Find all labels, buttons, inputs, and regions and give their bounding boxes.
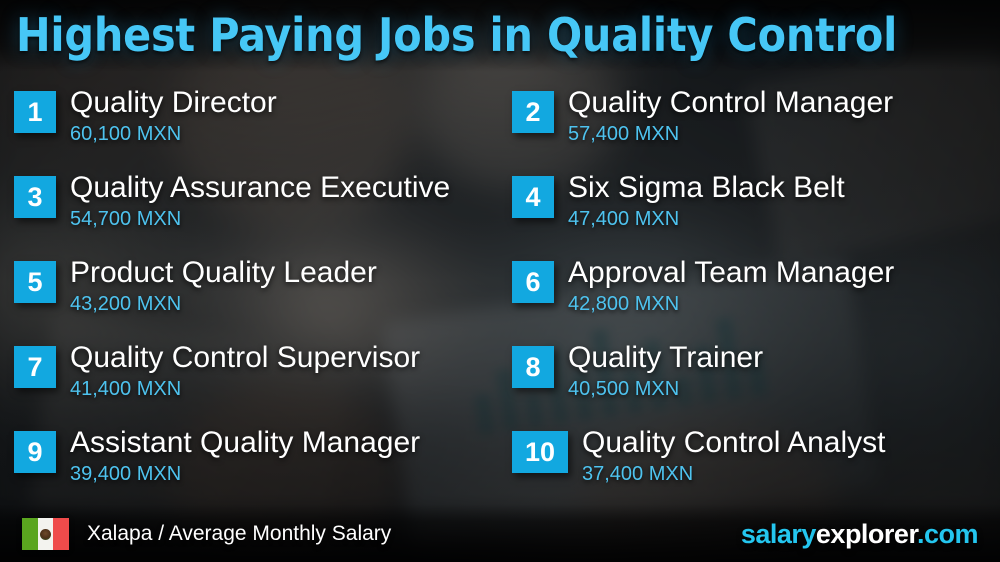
job-salary: 43,200 MXN bbox=[70, 291, 377, 317]
list-item: 1 Quality Director 60,100 MXN bbox=[0, 84, 500, 169]
list-item-text: Approval Team Manager 42,800 MXN bbox=[568, 254, 894, 317]
job-title: Quality Director bbox=[70, 84, 277, 122]
job-title: Assistant Quality Manager bbox=[70, 424, 420, 462]
list-item-text: Product Quality Leader 43,200 MXN bbox=[70, 254, 377, 317]
list-item: 3 Quality Assurance Executive 54,700 MXN bbox=[0, 169, 500, 254]
rank-badge: 3 bbox=[14, 176, 56, 218]
job-title: Quality Control Manager bbox=[568, 84, 893, 122]
job-salary: 41,400 MXN bbox=[70, 376, 420, 402]
list-item: 7 Quality Control Supervisor 41,400 MXN bbox=[0, 339, 500, 424]
list-item: 9 Assistant Quality Manager 39,400 MXN bbox=[0, 424, 500, 509]
job-salary: 40,500 MXN bbox=[568, 376, 763, 402]
footer-left-group: Xalapa / Average Monthly Salary bbox=[22, 518, 391, 550]
job-salary: 47,400 MXN bbox=[568, 206, 845, 232]
brand-part-salary: salary bbox=[741, 519, 816, 549]
list-item: 2 Quality Control Manager 57,400 MXN bbox=[500, 84, 1000, 169]
infographic-canvas: Highest Paying Jobs in Quality Control 1… bbox=[0, 0, 1000, 562]
footer-caption: Xalapa / Average Monthly Salary bbox=[87, 522, 391, 546]
brand-logo[interactable]: salaryexplorer.com bbox=[741, 519, 978, 550]
rank-badge: 4 bbox=[512, 176, 554, 218]
list-item-text: Six Sigma Black Belt 47,400 MXN bbox=[568, 169, 845, 232]
job-title: Quality Control Supervisor bbox=[70, 339, 420, 377]
brand-part-explorer: explorer bbox=[816, 519, 917, 549]
ranking-list: 1 Quality Director 60,100 MXN 2 Quality … bbox=[0, 84, 1000, 509]
job-salary: 60,100 MXN bbox=[70, 121, 277, 147]
job-salary: 57,400 MXN bbox=[568, 121, 893, 147]
brand-part-tld: .com bbox=[917, 519, 978, 549]
job-salary: 54,700 MXN bbox=[70, 206, 450, 232]
list-item-text: Quality Control Analyst 37,400 MXN bbox=[582, 424, 885, 487]
list-item: 5 Product Quality Leader 43,200 MXN bbox=[0, 254, 500, 339]
list-item-text: Quality Assurance Executive 54,700 MXN bbox=[70, 169, 450, 232]
job-title: Quality Trainer bbox=[568, 339, 763, 377]
rank-badge: 2 bbox=[512, 91, 554, 133]
rank-badge: 1 bbox=[14, 91, 56, 133]
list-item: 4 Six Sigma Black Belt 47,400 MXN bbox=[500, 169, 1000, 254]
job-title: Six Sigma Black Belt bbox=[568, 169, 845, 207]
page-title: Highest Paying Jobs in Quality Control bbox=[16, 6, 988, 64]
mexico-flag-icon bbox=[22, 518, 69, 550]
job-title: Product Quality Leader bbox=[70, 254, 377, 292]
rank-badge: 7 bbox=[14, 346, 56, 388]
list-item: 6 Approval Team Manager 42,800 MXN bbox=[500, 254, 1000, 339]
list-item: 8 Quality Trainer 40,500 MXN bbox=[500, 339, 1000, 424]
list-item-text: Quality Trainer 40,500 MXN bbox=[568, 339, 763, 402]
list-item-text: Assistant Quality Manager 39,400 MXN bbox=[70, 424, 420, 487]
footer-band: Xalapa / Average Monthly Salary salaryex… bbox=[0, 504, 1000, 562]
job-title: Approval Team Manager bbox=[568, 254, 894, 292]
rank-badge: 10 bbox=[512, 431, 568, 473]
list-item-text: Quality Control Manager 57,400 MXN bbox=[568, 84, 893, 147]
list-item-text: Quality Control Supervisor 41,400 MXN bbox=[70, 339, 420, 402]
rank-badge: 8 bbox=[512, 346, 554, 388]
list-item: 10 Quality Control Analyst 37,400 MXN bbox=[500, 424, 1000, 509]
flag-emblem-icon bbox=[40, 529, 51, 540]
job-salary: 42,800 MXN bbox=[568, 291, 894, 317]
job-salary: 37,400 MXN bbox=[582, 461, 885, 487]
rank-badge: 5 bbox=[14, 261, 56, 303]
rank-badge: 9 bbox=[14, 431, 56, 473]
list-item-text: Quality Director 60,100 MXN bbox=[70, 84, 277, 147]
job-title: Quality Assurance Executive bbox=[70, 169, 450, 207]
rank-badge: 6 bbox=[512, 261, 554, 303]
job-salary: 39,400 MXN bbox=[70, 461, 420, 487]
job-title: Quality Control Analyst bbox=[582, 424, 885, 462]
